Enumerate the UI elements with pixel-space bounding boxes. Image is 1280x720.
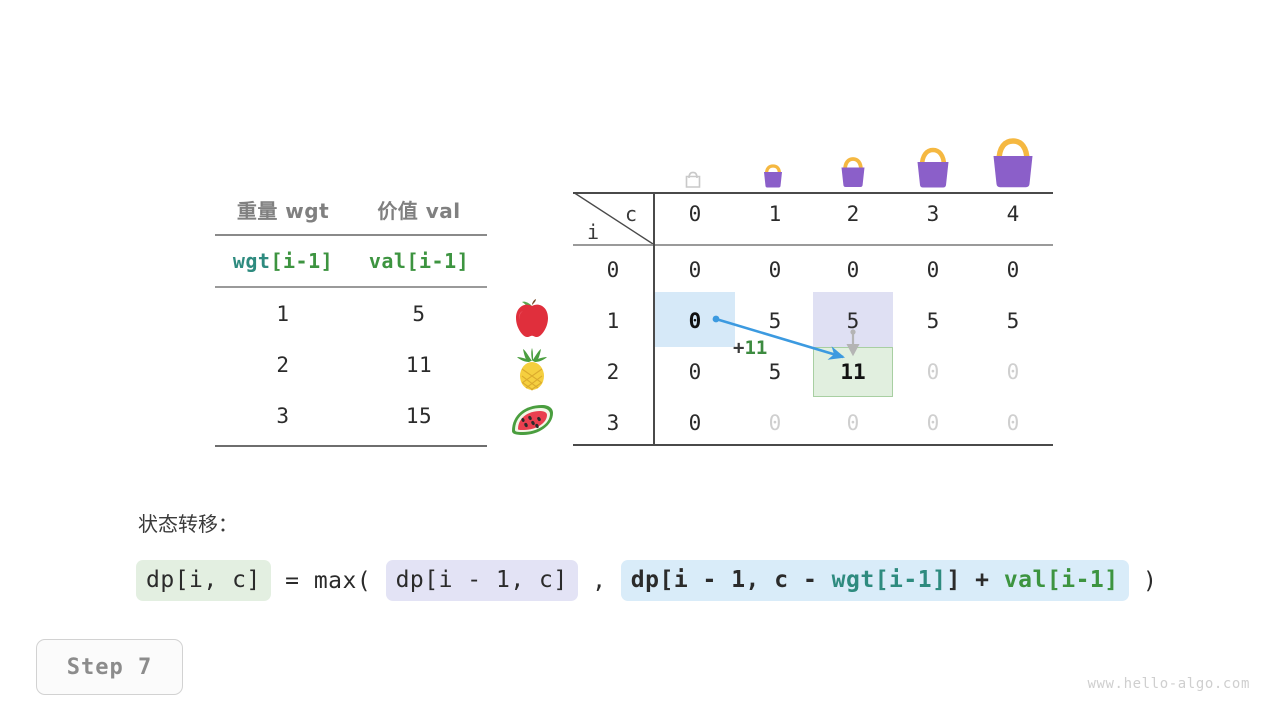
dp-col-header-4: 4	[973, 202, 1053, 226]
item-val-1: 5	[351, 288, 487, 339]
item-table-subheader-wgt: wgt[i-1]	[215, 236, 351, 286]
item-table-header-row: 重量 wgt 价值 val	[215, 192, 487, 234]
item-table-row-1: 1 5	[215, 288, 487, 339]
formula-option-2-val: val[i-1]	[1004, 567, 1119, 593]
formula-eq-max: = max(	[271, 568, 386, 594]
fruit-icon-column	[505, 292, 559, 445]
dp-cell-1-4: 5	[973, 309, 1053, 333]
bag-1-icon	[733, 122, 813, 190]
dp-col-header-3: 3	[893, 202, 973, 226]
dp-cell-2-3: 0	[893, 360, 973, 384]
dp-cell-0-0: 0	[655, 258, 735, 282]
dp-cell-2-0: 0	[655, 360, 735, 384]
item-wgt-3: 3	[215, 390, 351, 441]
dp-cell-1-0: 0	[655, 309, 735, 333]
dp-cell-3-2: 0	[813, 411, 893, 435]
gain-value: 11	[744, 337, 767, 359]
gain-plus-sign: +	[733, 337, 744, 359]
transition-formula: dp[i, c] = max( dp[i - 1, c] , dp[i - 1,…	[136, 560, 1157, 601]
step-badge: Step 7	[36, 639, 183, 695]
dp-cell-0-2: 0	[813, 258, 893, 282]
formula-close-paren: )	[1129, 568, 1158, 594]
val-token: val	[369, 249, 407, 273]
apple-icon	[505, 292, 559, 343]
item-table: 重量 wgt 价值 val wgt[i-1] val[i-1] 1 5 2 11…	[215, 192, 487, 447]
dp-col-header-1: 1	[735, 202, 815, 226]
footer-url: www.hello-algo.com	[1087, 676, 1250, 692]
item-val-3: 15	[351, 390, 487, 441]
item-table-row-2: 2 11	[215, 339, 487, 390]
dp-row-header-2: 2	[573, 360, 653, 384]
formula-option-2: dp[i - 1, c - wgt[i-1]] + val[i-1]	[621, 560, 1129, 601]
dp-cell-2-1: 5	[735, 360, 815, 384]
dp-cell-0-1: 0	[735, 258, 815, 282]
dp-corner-label-c: c	[625, 202, 637, 226]
item-val-2: 11	[351, 339, 487, 390]
dp-corner-label-i: i	[587, 220, 599, 244]
dp-cell-3-4: 0	[973, 411, 1053, 435]
dp-rule-header	[573, 244, 1053, 246]
pineapple-icon	[505, 343, 559, 394]
dp-cell-3-3: 0	[893, 411, 973, 435]
formula-option-2-wgt: wgt[i-1]	[832, 567, 947, 593]
slide-canvas: 重量 wgt 价值 val wgt[i-1] val[i-1] 1 5 2 11…	[0, 0, 1280, 720]
wgt-index-token: [i-1]	[270, 249, 333, 273]
dp-row-header-0: 0	[573, 258, 653, 282]
watermelon-icon	[505, 394, 559, 445]
dp-corner-diagonal	[573, 192, 653, 244]
wgt-token: wgt	[233, 249, 271, 273]
item-table-header-val: 价值 val	[351, 192, 487, 234]
dp-cell-1-1: 5	[735, 309, 815, 333]
dp-col-header-2: 2	[813, 202, 893, 226]
val-index-token: [i-1]	[406, 249, 469, 273]
item-table-row-3: 3 15	[215, 390, 487, 441]
formula-comma: ,	[578, 568, 621, 594]
dp-cell-3-0: 0	[655, 411, 735, 435]
bag-2-icon	[813, 122, 893, 190]
item-table-subheader-val: val[i-1]	[351, 236, 487, 286]
bag-4-icon	[973, 122, 1053, 190]
dp-row-header-3: 3	[573, 411, 653, 435]
dp-cell-0-3: 0	[893, 258, 973, 282]
item-table-header-wgt: 重量 wgt	[215, 192, 351, 234]
formula-lhs: dp[i, c]	[136, 560, 271, 601]
item-wgt-2: 2	[215, 339, 351, 390]
dp-cell-2-2: 11	[813, 360, 893, 384]
item-table-rule-bottom	[215, 445, 487, 447]
dp-row-header-1: 1	[573, 309, 653, 333]
bag-3-icon	[893, 122, 973, 190]
gain-annotation: +11	[733, 337, 767, 359]
dp-cell-2-4: 0	[973, 360, 1053, 384]
bag-0-icon	[653, 122, 733, 190]
dp-cell-1-3: 5	[893, 309, 973, 333]
transition-section-label: 状态转移：	[138, 508, 238, 537]
dp-rule-bottom	[573, 444, 1053, 446]
item-wgt-1: 1	[215, 288, 351, 339]
item-table-subheader-row: wgt[i-1] val[i-1]	[215, 236, 487, 286]
dp-cell-3-1: 0	[735, 411, 815, 435]
formula-option-2-mid: ] +	[946, 567, 1003, 593]
formula-option-2-prefix: dp[i - 1, c -	[631, 567, 832, 593]
dp-cell-1-2: 5	[813, 309, 893, 333]
dp-cell-0-4: 0	[973, 258, 1053, 282]
formula-option-1: dp[i - 1, c]	[386, 560, 578, 601]
capacity-bag-row	[653, 122, 1053, 190]
dp-col-header-0: 0	[655, 202, 735, 226]
